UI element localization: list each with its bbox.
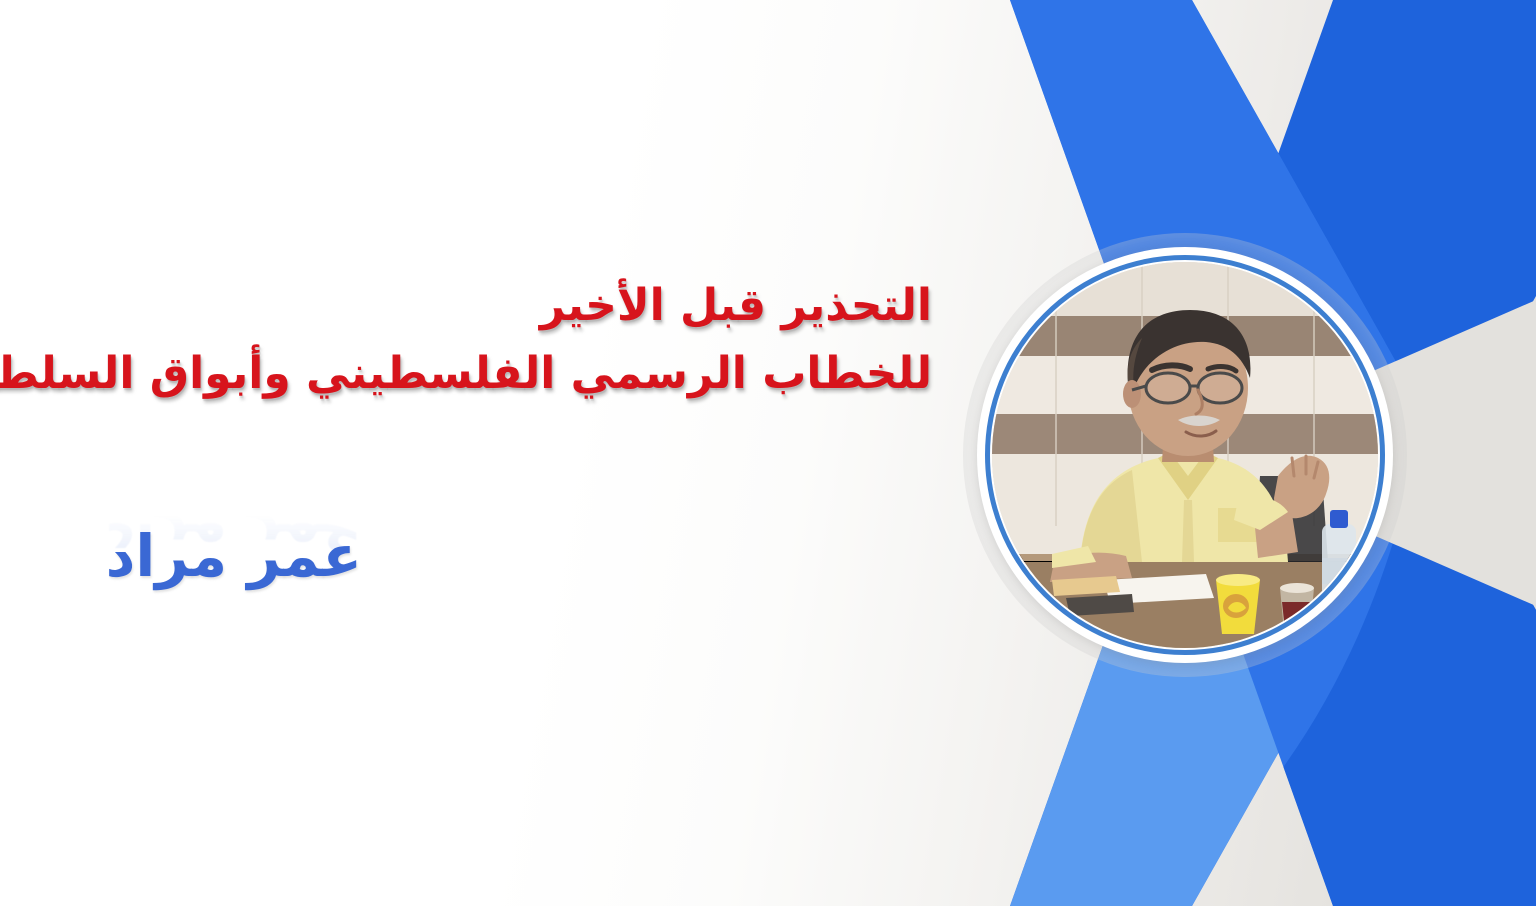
headline: التحذير قبل الأخير للخطاب الرسمي الفلسطي… — [0, 272, 944, 408]
author-name-reflection: عمر مراد — [0, 509, 362, 579]
portrait-photo — [992, 262, 1378, 648]
author-block: عمر مراد عمر مراد — [0, 521, 380, 591]
slide-canvas: التحذير قبل الأخير للخطاب الرسمي الفلسطي… — [0, 0, 1536, 906]
author-portrait — [963, 233, 1407, 677]
headline-line-2: للخطاب الرسمي الفلسطيني وأبواق السلطة — [0, 340, 932, 408]
headline-line-1: التحذير قبل الأخير — [0, 272, 932, 340]
